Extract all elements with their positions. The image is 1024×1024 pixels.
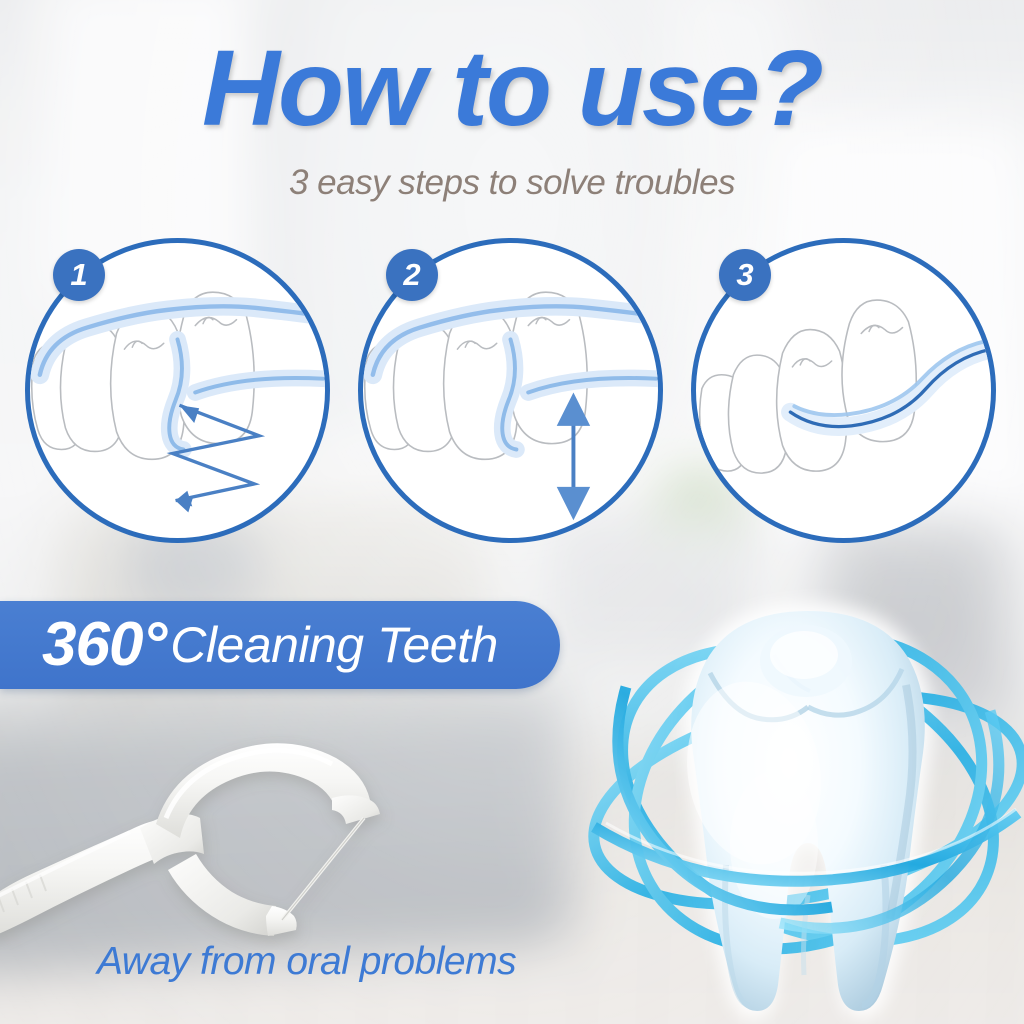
dental-floss-pick-photo	[0, 700, 450, 950]
banner-degrees: 360°	[42, 614, 166, 676]
step-circle-2: 2	[358, 238, 663, 543]
step-badge-3: 3	[719, 249, 771, 301]
molar-with-rings	[578, 565, 1024, 1024]
bottom-tagline: Away from oral problems	[97, 940, 516, 984]
step-circle-3: 3	[691, 238, 996, 543]
step-badge-1: 1	[53, 249, 105, 301]
page-subtitle: 3 easy steps to solve troubles	[0, 163, 1024, 203]
floss-pick-shape	[0, 700, 450, 950]
step-badge-2: 2	[386, 249, 438, 301]
cleaning-banner: 360° Cleaning Teeth	[0, 601, 560, 689]
banner-label: Cleaning Teeth	[170, 620, 498, 670]
page-title: How to use?	[0, 34, 1024, 142]
steps-row: 1	[0, 238, 1024, 548]
infographic-canvas: How to use? 3 easy steps to solve troubl…	[0, 0, 1024, 1024]
step-circle-1: 1	[25, 238, 330, 543]
tooth-graphic	[578, 565, 1024, 1024]
